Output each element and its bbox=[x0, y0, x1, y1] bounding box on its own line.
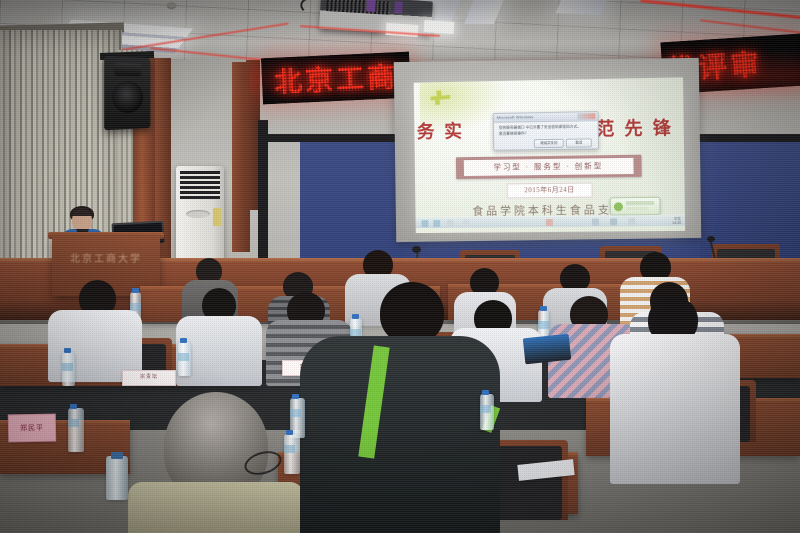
slide-subtitle: 学习型 · 服务型 · 创新型 bbox=[464, 158, 634, 176]
name-card: 宗贵坛 bbox=[122, 370, 176, 386]
water-bottle bbox=[284, 434, 300, 474]
water-bottle bbox=[68, 408, 84, 452]
bottle-cap bbox=[286, 430, 293, 435]
led-banner-left: 北京工商 bbox=[261, 52, 411, 105]
led-banner-left-text: 北京工商 bbox=[261, 55, 411, 102]
bottle-cap bbox=[540, 306, 547, 311]
name-card: 郑民平 bbox=[8, 414, 56, 443]
water-bottle bbox=[106, 456, 128, 500]
audience-laptop bbox=[523, 334, 571, 365]
ac-grille bbox=[180, 171, 220, 199]
water-bottle bbox=[480, 394, 494, 430]
dialog-message: 您的服务器端口 中已外置了安全密码原密码方式。 是否要继续操作？ bbox=[499, 123, 593, 136]
projector-indicator bbox=[366, 0, 376, 12]
person-torso bbox=[300, 336, 500, 533]
water-bottle bbox=[62, 352, 75, 386]
person-torso bbox=[610, 334, 740, 484]
speaker-cone-icon bbox=[112, 81, 143, 114]
projection-screen: 务实 范先锋 学习型 · 服务型 · 创新型 2015年6月24日 食品学院本科… bbox=[414, 77, 685, 233]
slide-title-left: 务实 bbox=[417, 121, 472, 142]
panel-frame bbox=[258, 120, 268, 270]
popup-line bbox=[626, 201, 654, 205]
water-bottle bbox=[178, 342, 191, 376]
speaker-horn bbox=[114, 62, 141, 76]
taskbar-icon[interactable] bbox=[463, 219, 470, 226]
person-head bbox=[380, 282, 444, 344]
taskbar-icon[interactable] bbox=[433, 219, 440, 226]
projector-lens-glow bbox=[424, 20, 455, 34]
microphone-icon bbox=[707, 236, 715, 242]
dialog-primary-button[interactable]: 继续并关闭 bbox=[534, 139, 564, 148]
taskbar-icon[interactable] bbox=[447, 219, 454, 226]
bottle-cap bbox=[70, 404, 77, 409]
dialog-secondary-button[interactable]: 取消 bbox=[566, 138, 592, 147]
bottle-label bbox=[62, 363, 73, 371]
taskbar-icon[interactable] bbox=[546, 218, 553, 225]
popup-line bbox=[626, 207, 648, 210]
bottle-cap bbox=[180, 338, 187, 343]
taskbar-icon[interactable] bbox=[628, 218, 635, 225]
slide-title-right: 范先锋 bbox=[596, 118, 681, 139]
bottle-label bbox=[68, 419, 79, 427]
taskbar-tray[interactable]: 中文 14:26 bbox=[672, 217, 681, 225]
person-torso bbox=[128, 482, 304, 533]
dialog-message-line2: 是否要继续操作？ bbox=[499, 129, 593, 136]
windows-taskbar[interactable]: 中文 14:26 bbox=[416, 215, 686, 228]
podium-label: 北京工商大学 bbox=[52, 250, 160, 265]
microphone-icon bbox=[412, 246, 421, 253]
conference-hall-photo: 北京工商 优评审 务实 范先锋 学习型 · 服务型 · 创新型 2015年6月2… bbox=[0, 0, 800, 533]
popup-status-icon bbox=[614, 202, 623, 211]
bottle-cap bbox=[352, 314, 359, 319]
slide-date: 2015年6月24日 bbox=[507, 182, 593, 198]
wall-speaker bbox=[104, 56, 150, 130]
notification-popup[interactable] bbox=[610, 197, 661, 216]
bottle-cap bbox=[111, 452, 123, 459]
bottle-cap bbox=[132, 288, 139, 293]
bottle-label bbox=[284, 445, 295, 453]
bottle-cap bbox=[292, 394, 299, 399]
taskbar-icon[interactable] bbox=[610, 218, 617, 225]
bottle-label bbox=[178, 353, 189, 361]
tray-clock: 14:26 bbox=[672, 221, 681, 225]
projector-indicator bbox=[394, 1, 403, 13]
ac-logo bbox=[186, 210, 210, 218]
dialog-title: Microsoft Windows bbox=[497, 113, 534, 122]
bottle-label bbox=[290, 409, 301, 417]
taskbar-icon[interactable] bbox=[421, 220, 428, 227]
slide-subtitle-inner: 学习型 · 服务型 · 创新型 bbox=[464, 158, 634, 176]
ac-badge bbox=[213, 208, 221, 226]
projector-vents bbox=[326, 0, 391, 15]
bottle-cap bbox=[482, 390, 489, 395]
bottle-label bbox=[480, 405, 491, 413]
close-icon[interactable] bbox=[577, 113, 595, 119]
slide-subtitle-bar: 学习型 · 服务型 · 创新型 bbox=[456, 155, 642, 179]
bottle-cap bbox=[64, 348, 71, 353]
taskbar-icon[interactable] bbox=[592, 218, 599, 225]
bottle-label bbox=[538, 321, 549, 329]
windows-dialog[interactable]: Microsoft Windows 您的服务器端口 中已外置了安全密码原密码方式… bbox=[493, 111, 599, 151]
